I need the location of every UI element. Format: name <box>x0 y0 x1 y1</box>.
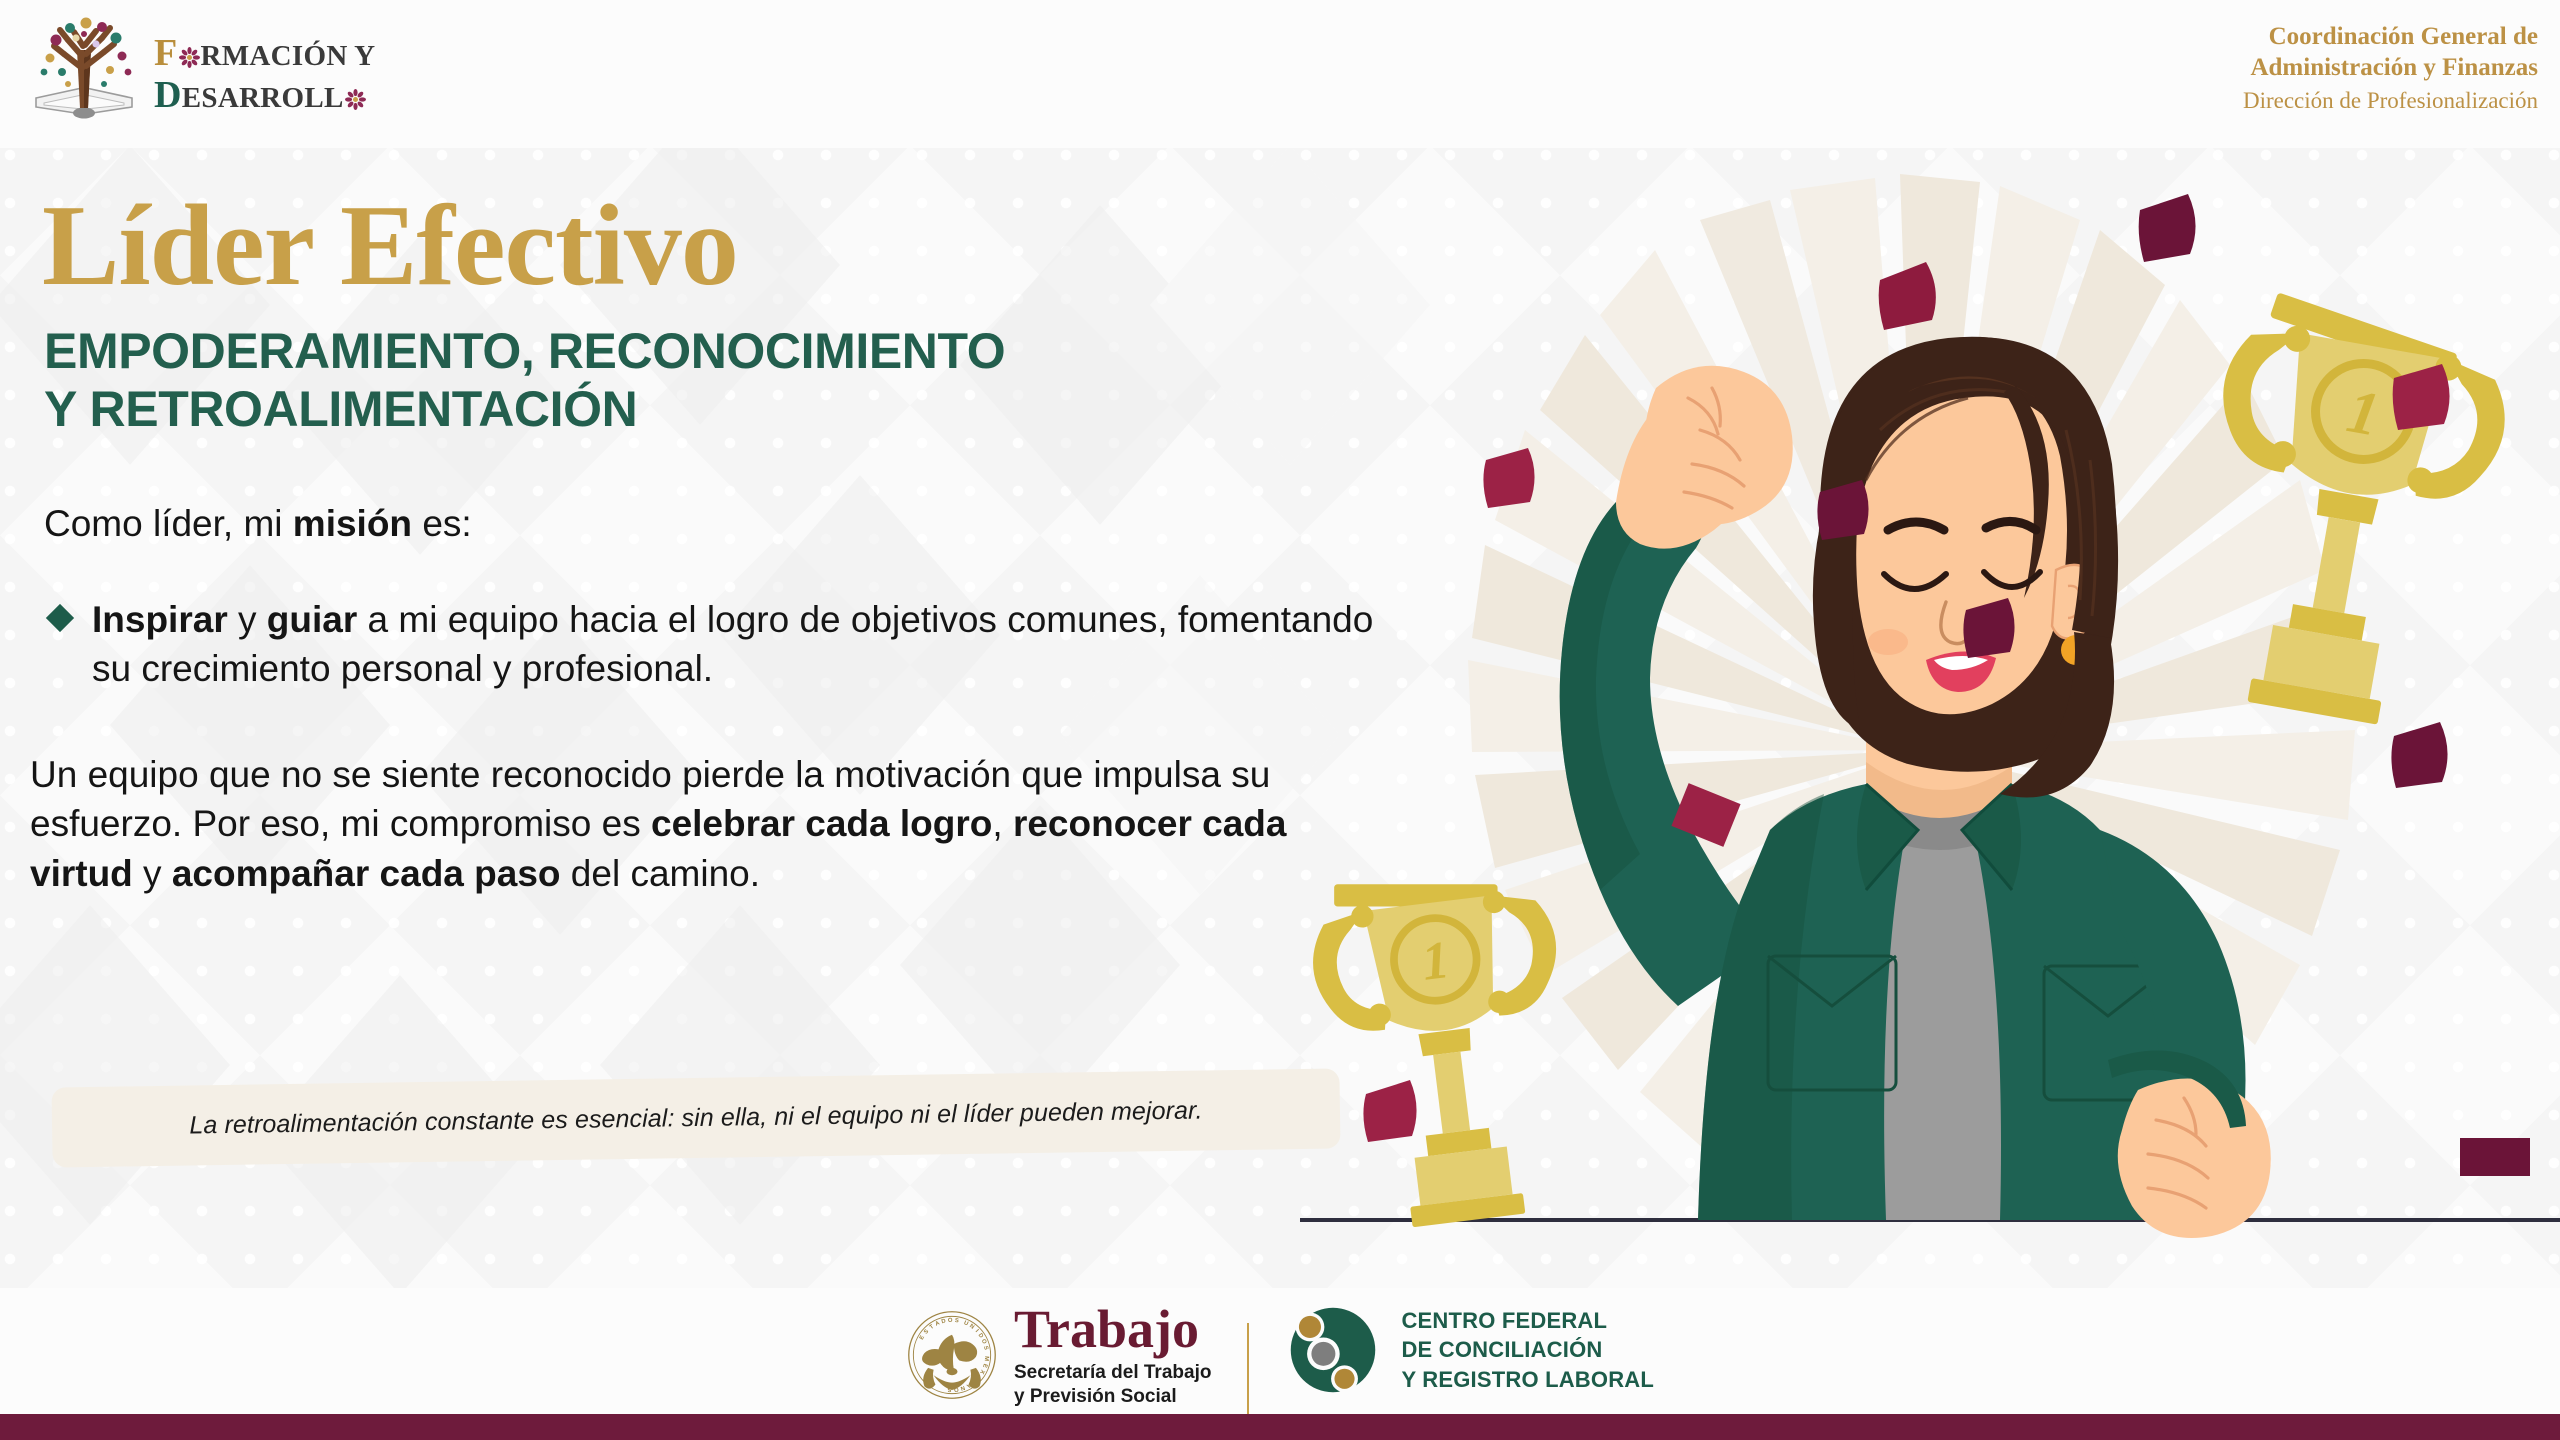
flower-glyph-icon-2 <box>345 86 366 107</box>
trabajo-subline-1: Secretaría del Trabajo <box>1014 1361 1212 1385</box>
bottom-accent-bar <box>0 1414 2560 1440</box>
logo-line1-text: RMACIÓN Y <box>201 40 376 72</box>
lead-post: es: <box>412 503 472 544</box>
feedback-quote-text: La retroalimentación constante es esenci… <box>189 1096 1203 1140</box>
svg-text:A: A <box>934 1321 941 1329</box>
bullet-bold-1: Inspirar <box>92 599 228 640</box>
subtitle-line-1: EMPODERAMIENTO, RECONOCIMIENTO <box>44 322 1400 380</box>
mexican-coat-of-arms-icon: E S T A D O S U N I D O S M E X I C A N <box>906 1307 998 1403</box>
logo-d-cap: D <box>154 74 182 116</box>
svg-text:O: O <box>980 1339 987 1346</box>
svg-text:E: E <box>981 1363 988 1369</box>
svg-text:E: E <box>919 1335 926 1341</box>
trophy-left-icon: 1 <box>1303 858 1588 1235</box>
svg-text:D: D <box>977 1333 984 1340</box>
flower-glyph-icon <box>179 44 200 65</box>
para-text-3: y <box>133 853 172 894</box>
mission-lead: Como líder, mi misión es: <box>44 500 1400 548</box>
trabajo-subline-2: y Previsión Social <box>1014 1385 1212 1409</box>
svg-text:T: T <box>929 1324 936 1331</box>
svg-text:S: S <box>923 1329 930 1336</box>
mission-bullet-list: Inspirar y guiar a mi equipo hacia el lo… <box>48 596 1400 694</box>
cfcrl-circles-logo-icon <box>1285 1302 1381 1398</box>
logo-line2-text: ESARROLL <box>182 82 344 114</box>
svg-text:U: U <box>963 1321 969 1328</box>
coordinacion-line2: Administración y Finanzas <box>2243 53 2538 84</box>
lead-pre: Como líder, mi <box>44 503 293 544</box>
bullet-text-1: y <box>228 599 267 640</box>
header-right-titles: Coordinación General de Administración y… <box>2243 22 2538 114</box>
direccion-profesionalizacion: Dirección de Profesionalización <box>2243 88 2538 114</box>
celebrating-woman-illustration: 1 1 <box>1300 130 2560 1290</box>
tree-book-logo-icon <box>24 10 144 130</box>
page-title: Líder Efectivo <box>42 188 1400 304</box>
diamond-bullet-icon <box>46 604 74 632</box>
para-bold-3: acompañar cada paso <box>172 853 561 894</box>
para-text-2: , <box>992 803 1013 844</box>
cfcrl-text: CENTRO FEDERAL DE CONCILIACIÓN Y REGISTR… <box>1401 1306 1654 1394</box>
svg-text:S: S <box>982 1346 989 1351</box>
cfcrl-line-3: Y REGISTRO LABORAL <box>1401 1365 1654 1394</box>
trabajo-text: Trabajo Secretaría del Trabajo y Previsi… <box>1014 1302 1212 1409</box>
main-content: Líder Efectivo EMPODERAMIENTO, RECONOCIM… <box>0 148 1400 898</box>
coordinacion-line1: Coordinación General de <box>2243 22 2538 53</box>
para-bold-1: celebrar cada logro <box>651 803 992 844</box>
logo-f-cap: F <box>154 32 178 74</box>
subtitle-line-2: Y RETROALIMENTACIÓN <box>44 380 1400 438</box>
lead-bold: misión <box>293 503 412 544</box>
bullet-bold-2: guiar <box>267 599 357 640</box>
trabajo-logo: E S T A D O S U N I D O S M E X I C A N <box>906 1302 1212 1409</box>
svg-text:D: D <box>941 1319 947 1326</box>
formacion-desarrollo-wordmark: FRMACIÓN Y DESARROLL <box>154 34 375 114</box>
svg-text:O: O <box>948 1318 953 1324</box>
trabajo-word: Trabajo <box>1014 1302 1212 1356</box>
footer-divider <box>1247 1323 1249 1419</box>
svg-text:M: M <box>983 1356 989 1362</box>
cfcrl-line-1: CENTRO FEDERAL <box>1401 1306 1654 1335</box>
svg-text:S: S <box>954 1318 959 1324</box>
page-subtitle: EMPODERAMIENTO, RECONOCIMIENTO Y RETROAL… <box>44 322 1400 438</box>
commitment-paragraph: Un equipo que no se siente reconocido pi… <box>30 750 1390 899</box>
cfcrl-logo: CENTRO FEDERAL DE CONCILIACIÓN Y REGISTR… <box>1285 1302 1654 1398</box>
cfcrl-line-2: DE CONCILIACIÓN <box>1401 1335 1654 1364</box>
page-header: FRMACIÓN Y DESARROLL Coordinación Genera… <box>0 0 2560 148</box>
formacion-desarrollo-logo: FRMACIÓN Y DESARROLL <box>24 10 375 130</box>
svg-text:N: N <box>968 1324 975 1331</box>
list-item: Inspirar y guiar a mi equipo hacia el lo… <box>48 596 1378 694</box>
para-text-4: del camino. <box>561 853 761 894</box>
